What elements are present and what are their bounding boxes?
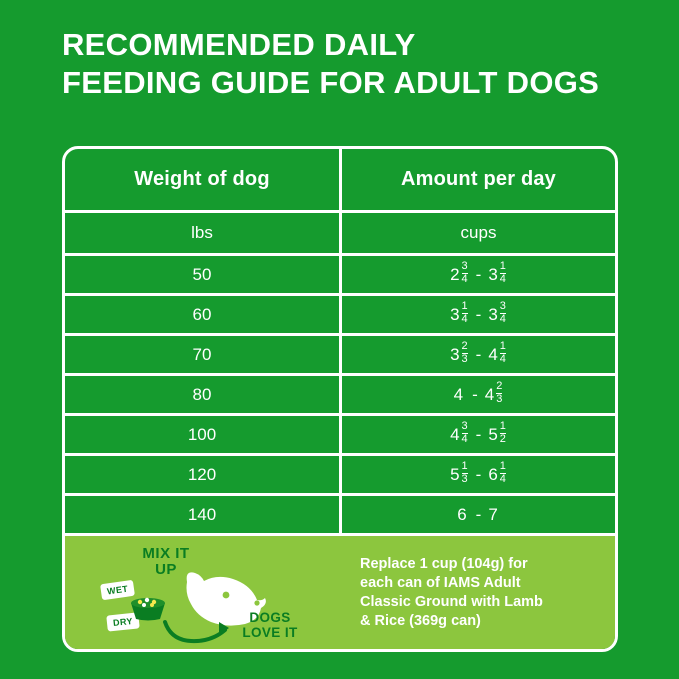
mix-it-up-graphic: MIX IT UP WET DRY: [65, 536, 342, 649]
footer-row: MIX IT UP WET DRY: [65, 536, 615, 649]
low-whole: 4: [450, 426, 459, 443]
range-dash: -: [476, 466, 482, 483]
weight-value: 120: [65, 456, 342, 493]
mix-it-up-panel: MIX IT UP WET DRY: [65, 536, 615, 649]
amount-range: 6 - 7: [457, 506, 500, 523]
weight-value: 50: [65, 256, 342, 293]
range-dash: -: [476, 266, 482, 283]
page-title: RECOMMENDED DAILY FEEDING GUIDE FOR ADUL…: [62, 26, 662, 102]
page-title-line-1: RECOMMENDED DAILY: [62, 26, 662, 64]
weight-value: 140: [65, 496, 342, 533]
amount-value: 4 - 4 2 3: [342, 376, 615, 413]
table-row: 120 5 1 3 - 6 1 4: [65, 456, 615, 496]
high-fraction: 1 4: [500, 261, 506, 285]
table-row: 70 3 2 3 - 4 1 4: [65, 336, 615, 376]
note-line-2: each can of IAMS Adult: [360, 575, 521, 591]
header-amount-per-day: Amount per day: [342, 149, 615, 210]
amount-value: 3 1 4 - 3 3 4: [342, 296, 615, 333]
weight-value: 60: [65, 296, 342, 333]
amount-range: 3 2 3 - 4 1 4: [450, 342, 507, 366]
weight-value: 100: [65, 416, 342, 453]
high-fraction: 1 2: [500, 421, 506, 445]
table-row: 60 3 1 4 - 3 3 4: [65, 296, 615, 336]
range-dash: -: [476, 306, 482, 323]
low-whole: 2: [450, 266, 459, 283]
table-row: 100 4 3 4 - 5 1 2: [65, 416, 615, 456]
amount-range: 5 1 3 - 6 1 4: [450, 462, 507, 486]
amount-value: 4 3 4 - 5 1 2: [342, 416, 615, 453]
replacement-note: Replace 1 cup (104g) for each can of IAM…: [342, 536, 615, 649]
low-fraction: 3 4: [462, 261, 468, 285]
feeding-table: Weight of dog Amount per day lbs cups 50…: [62, 146, 618, 652]
low-whole: 3: [450, 306, 459, 323]
low-fraction: 2 3: [462, 341, 468, 365]
amount-range: 2 3 4 - 3 1 4: [450, 262, 507, 286]
high-whole: 3: [488, 266, 497, 283]
high-whole: 7: [488, 506, 497, 523]
high-fraction: 1 4: [500, 341, 506, 365]
high-fraction: 2 3: [496, 381, 502, 405]
feeding-guide-page: RECOMMENDED DAILY FEEDING GUIDE FOR ADUL…: [0, 0, 679, 679]
amount-range: 4 - 4 2 3: [454, 382, 504, 406]
note-line-4: & Rice (369g can): [360, 613, 481, 629]
page-title-line-2: FEEDING GUIDE FOR ADULT DOGS: [62, 64, 662, 102]
table-header-row: Weight of dog Amount per day: [65, 149, 615, 213]
mix-it-line-1: MIX IT: [142, 545, 189, 562]
high-whole: 4: [485, 386, 494, 403]
dogs-line-1: DOGS: [249, 610, 290, 625]
header-weight-of-dog: Weight of dog: [65, 149, 342, 210]
unit-cups: cups: [342, 213, 615, 253]
table-row: 140 6 - 7: [65, 496, 615, 536]
amount-range: 3 1 4 - 3 3 4: [450, 302, 507, 326]
high-fraction: 3 4: [500, 301, 506, 325]
low-whole: 4: [454, 386, 463, 403]
weight-value: 70: [65, 336, 342, 373]
table-row: 80 4 - 4 2 3: [65, 376, 615, 416]
range-dash: -: [476, 426, 482, 443]
note-line-3: Classic Ground with Lamb: [360, 594, 543, 610]
high-fraction: 1 4: [500, 461, 506, 485]
low-fraction: 1 3: [462, 461, 468, 485]
high-whole: 5: [488, 426, 497, 443]
low-fraction: 3 4: [462, 421, 468, 445]
amount-value: 2 3 4 - 3 1 4: [342, 256, 615, 293]
low-fraction: 1 4: [462, 301, 468, 325]
dogs-love-it-label: DOGS LOVE IT: [220, 610, 320, 640]
dogs-line-2: LOVE IT: [242, 625, 297, 640]
amount-range: 4 3 4 - 5 1 2: [450, 422, 507, 446]
amount-value: 3 2 3 - 4 1 4: [342, 336, 615, 373]
table-row: 50 2 3 4 - 3 1 4: [65, 256, 615, 296]
high-whole: 3: [488, 306, 497, 323]
high-whole: 6: [488, 466, 497, 483]
table-units-row: lbs cups: [65, 213, 615, 256]
range-dash: -: [472, 386, 478, 403]
high-whole: 4: [488, 346, 497, 363]
low-whole: 6: [457, 506, 466, 523]
weight-value: 80: [65, 376, 342, 413]
low-whole: 5: [450, 466, 459, 483]
amount-value: 5 1 3 - 6 1 4: [342, 456, 615, 493]
amount-value: 6 - 7: [342, 496, 615, 533]
range-dash: -: [476, 346, 482, 363]
unit-lbs: lbs: [65, 213, 342, 253]
note-line-1: Replace 1 cup (104g) for: [360, 556, 528, 572]
low-whole: 3: [450, 346, 459, 363]
range-dash: -: [476, 506, 482, 523]
replacement-note-text: Replace 1 cup (104g) for each can of IAM…: [360, 555, 543, 631]
